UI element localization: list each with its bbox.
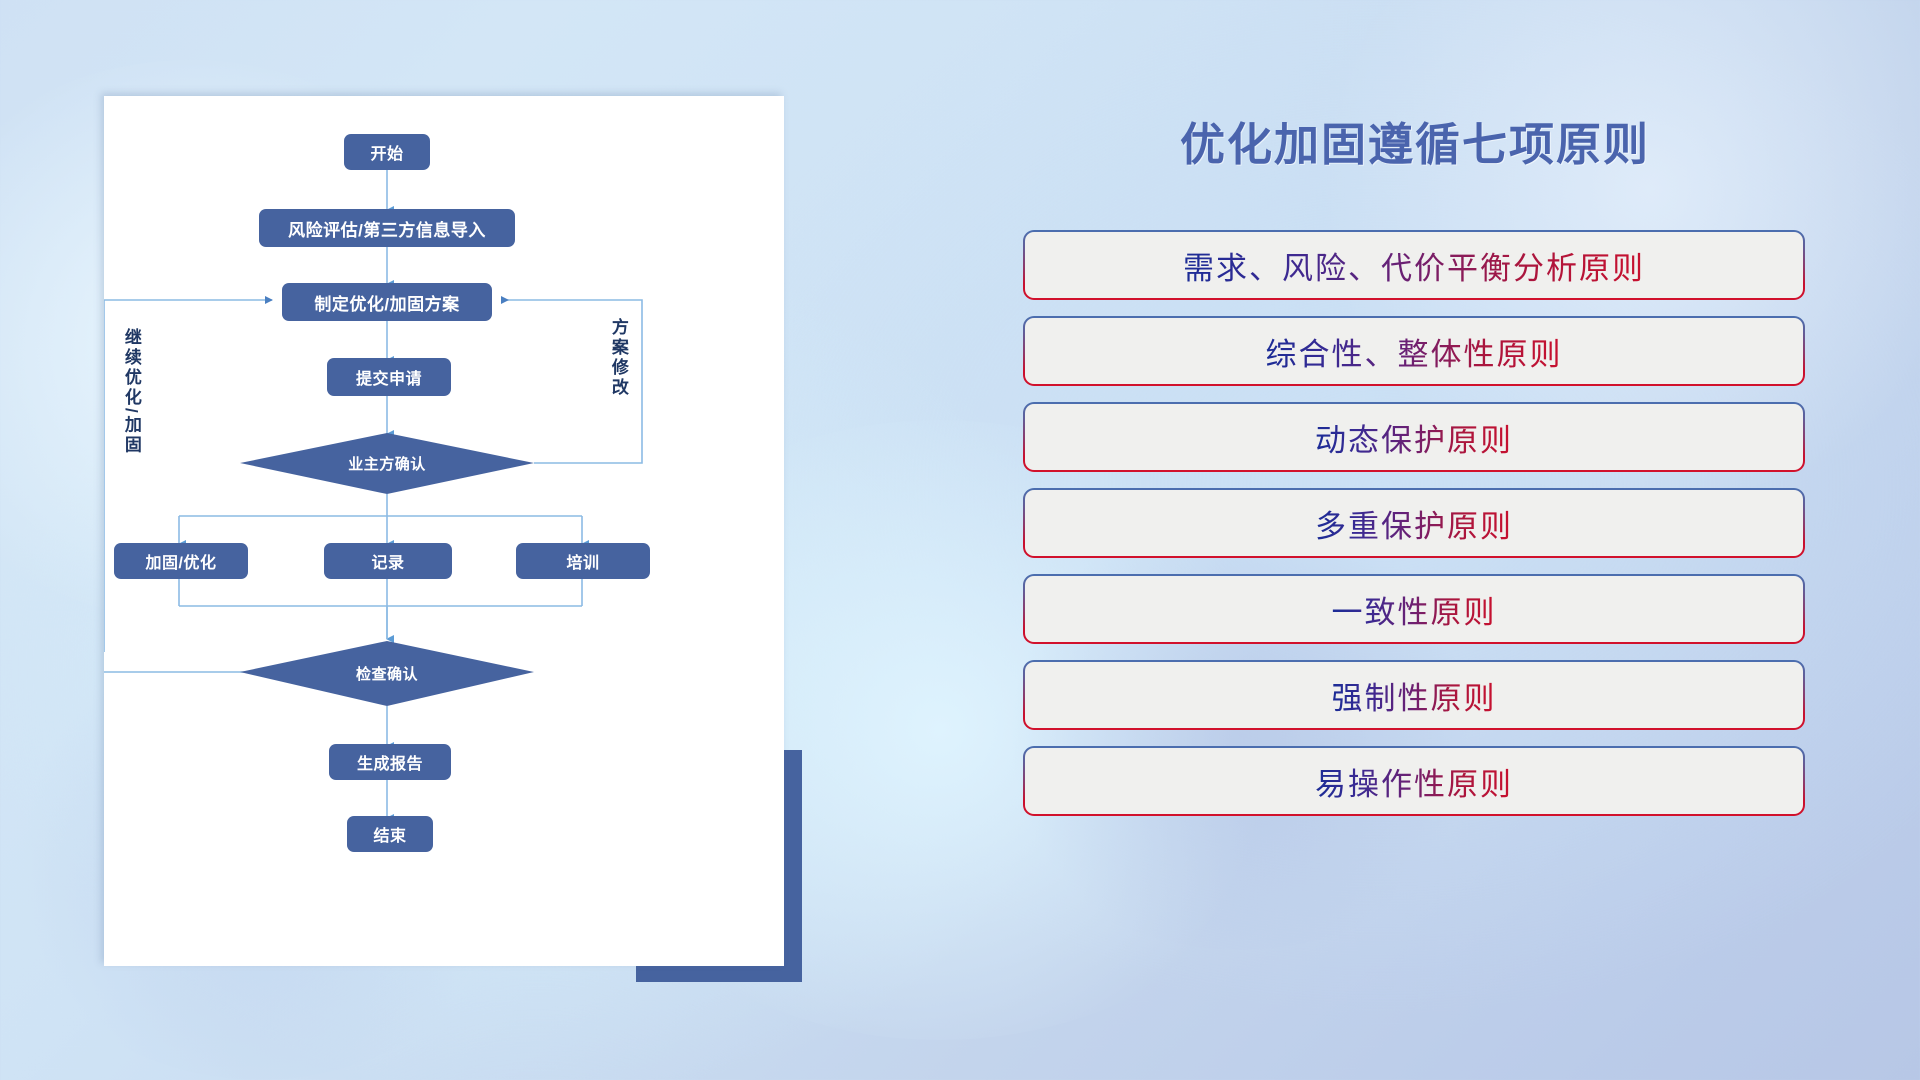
- principle-label-7: 易操作性原则: [1315, 759, 1513, 804]
- flow-node-assess-shape: [259, 209, 515, 247]
- flow-node-record-shape: [324, 543, 452, 579]
- flow-node-report-shape: [329, 744, 451, 780]
- flow-node-start-shape: [344, 134, 430, 170]
- principle-inner-3: 动态保护原则: [1025, 404, 1803, 470]
- flow-edge-label-left-loop: 继续优化/加固: [122, 328, 140, 498]
- principle-label-4: 多重保护原则: [1315, 501, 1513, 546]
- principle-inner-7: 易操作性原则: [1025, 748, 1803, 814]
- principle-inner-1: 需求、风险、代价平衡分析原则: [1025, 232, 1803, 298]
- principle-label-6: 强制性原则: [1332, 673, 1497, 718]
- principle-label-2: 综合性、整体性原则: [1266, 329, 1563, 374]
- principle-item-6[interactable]: 强制性原则: [1023, 660, 1805, 730]
- principle-label-3: 动态保护原则: [1315, 415, 1513, 460]
- flowchart-canvas: [104, 96, 784, 966]
- flow-node-end-shape: [347, 816, 433, 852]
- principle-item-3[interactable]: 动态保护原则: [1023, 402, 1805, 472]
- principle-item-2[interactable]: 综合性、整体性原则: [1023, 316, 1805, 386]
- principle-inner-2: 综合性、整体性原则: [1025, 318, 1803, 384]
- flow-edge-label-right-loop: 方案修改: [609, 318, 627, 438]
- panel-title: 优化加固遵循七项原则: [1020, 108, 1810, 173]
- flow-node-reinforce-shape: [114, 543, 248, 579]
- principle-item-4[interactable]: 多重保护原则: [1023, 488, 1805, 558]
- principle-item-1[interactable]: 需求、风险、代价平衡分析原则: [1023, 230, 1805, 300]
- principle-inner-6: 强制性原则: [1025, 662, 1803, 728]
- principle-item-5[interactable]: 一致性原则: [1023, 574, 1805, 644]
- flow-node-owner-shape: [240, 433, 534, 494]
- principle-label-1: 需求、风险、代价平衡分析原则: [1183, 243, 1645, 288]
- principle-inner-5: 一致性原则: [1025, 576, 1803, 642]
- principle-label-5: 一致性原则: [1332, 587, 1497, 632]
- principles-panel: 优化加固遵循七项原则 需求、风险、代价平衡分析原则 综合性、整体性原则 动态保护…: [1020, 0, 1920, 1080]
- flowchart-card: 开始 风险评估/第三方信息导入 制定优化/加固方案 提交申请 业主方确认 加固/…: [104, 96, 784, 966]
- flow-node-plan-shape: [282, 283, 492, 321]
- principle-item-7[interactable]: 易操作性原则: [1023, 746, 1805, 816]
- principles-list: 需求、风险、代价平衡分析原则 综合性、整体性原则 动态保护原则 多重保护原则 一…: [1023, 230, 1805, 832]
- flow-node-training-shape: [516, 543, 650, 579]
- flow-node-check-shape: [240, 641, 534, 706]
- flow-node-submit-shape: [327, 358, 451, 396]
- principle-inner-4: 多重保护原则: [1025, 490, 1803, 556]
